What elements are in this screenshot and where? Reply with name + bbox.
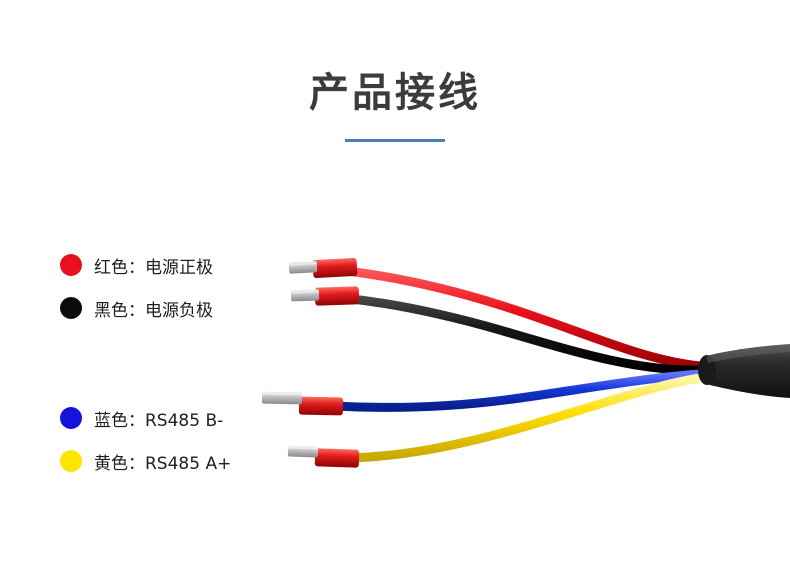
legend-item-blue: 蓝色：RS485 B-	[60, 405, 223, 431]
black-color-dot	[60, 297, 82, 319]
cable-sheath	[698, 344, 790, 398]
yellow-wire-ferrule-terminal	[288, 445, 360, 467]
legend-item-black: 黑色：电源负极	[60, 295, 213, 321]
yellow-color-dot	[60, 450, 82, 472]
legend-item-yellow: 黄色：RS485 A+	[60, 448, 231, 474]
red-wire	[289, 258, 700, 366]
blue-color-dot	[60, 407, 82, 429]
blue-wire-ferrule-terminal	[262, 392, 343, 416]
legend-item-red-label: 红色：电源正极	[94, 253, 213, 278]
red-wire-ferrule-terminal	[289, 258, 358, 278]
black-wire-ferrule-terminal	[291, 286, 359, 306]
title-underline	[345, 139, 445, 142]
product-wiring-diagram-page: 产品接线 红色：电源正极 黑色：电源负极 蓝色：RS485 B- 黄色：RS48…	[0, 0, 790, 585]
yellow-wire	[288, 378, 700, 468]
red-color-dot	[60, 254, 82, 276]
legend-item-red: 红色：电源正极	[60, 252, 213, 278]
legend-item-yellow-label: 黄色：RS485 A+	[94, 449, 231, 474]
blue-wire	[262, 374, 700, 415]
legend-item-black-label: 黑色：电源负极	[94, 296, 213, 321]
black-wire	[291, 286, 700, 370]
page-title: 产品接线	[0, 60, 790, 118]
legend-item-blue-label: 蓝色：RS485 B-	[94, 406, 223, 431]
